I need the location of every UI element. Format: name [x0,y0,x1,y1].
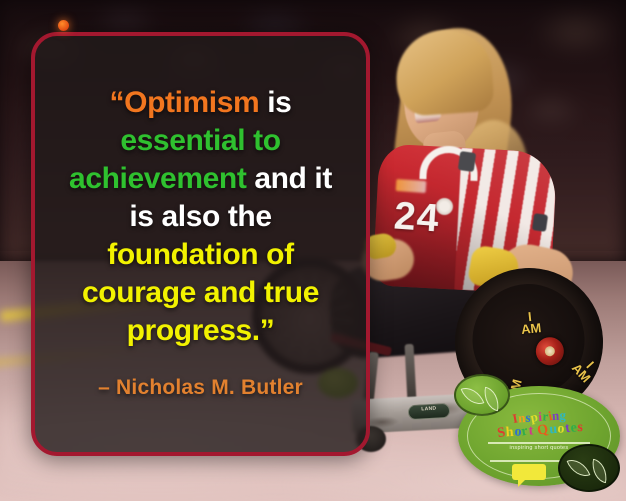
land-rover-badge-text: LAND [409,404,450,419]
wheel-text-top: I AM [519,310,542,336]
quote-line-6: courage and true [69,274,332,312]
quote-seg-1b: is [259,86,291,119]
quote-seg-6a: courage and true [82,276,319,309]
land-rover-badge: LAND [408,403,451,420]
quote-attribution: – Nicholas M. Butler [98,376,303,400]
quote-line-2: essential to [69,122,332,160]
quote-line-3: achievement and it [69,160,332,198]
quote-seg-3b: and it [246,162,332,195]
logo-letter: s [577,421,584,435]
quote-seg-7a: progress.” [127,314,275,347]
quote-seg-2a: essential to [120,124,280,157]
jersey-chest-logo [396,179,427,193]
leaf-circle-bottom-right [558,444,620,492]
brand-logo[interactable]: Inspiring Short Quotes inspiring short q… [452,372,626,501]
logo-divider-top [488,442,590,444]
jersey-number: 24 [393,194,441,241]
leaf-icon-2 [481,387,502,412]
quote-text: “Optimism is essential to achievement an… [69,84,332,351]
quote-word-achievement: achievement [69,162,246,195]
quote-seg-4a: is also the [129,200,271,233]
quote-word-optimism: “Optimism [110,86,260,119]
quote-seg-5a: foundation of [107,238,293,271]
quote-line-1: “Optimism is [69,84,332,122]
accent-dot-icon [58,20,69,31]
leaf-circle-top-left [454,374,510,416]
speech-bubble-icon [512,464,546,480]
leaf-icon-4 [589,459,610,484]
quote-card: “Optimism is essential to achievement an… [31,32,370,456]
wheel-hub-core [544,345,556,357]
quote-line-7: progress.” [69,312,332,350]
leaf-icon-3 [566,455,590,482]
leaf-icon-1 [460,383,484,410]
quote-image: 24 LAND I AM I AM I AM [0,0,626,501]
quote-line-5: foundation of [69,236,332,274]
jersey-sleeve-patch [532,213,548,232]
quote-line-4: is also the [69,198,332,236]
wheel-text-top-line2: AM [521,322,542,336]
wheel-hub [533,334,567,368]
jersey-shoulder-patch [458,151,476,172]
